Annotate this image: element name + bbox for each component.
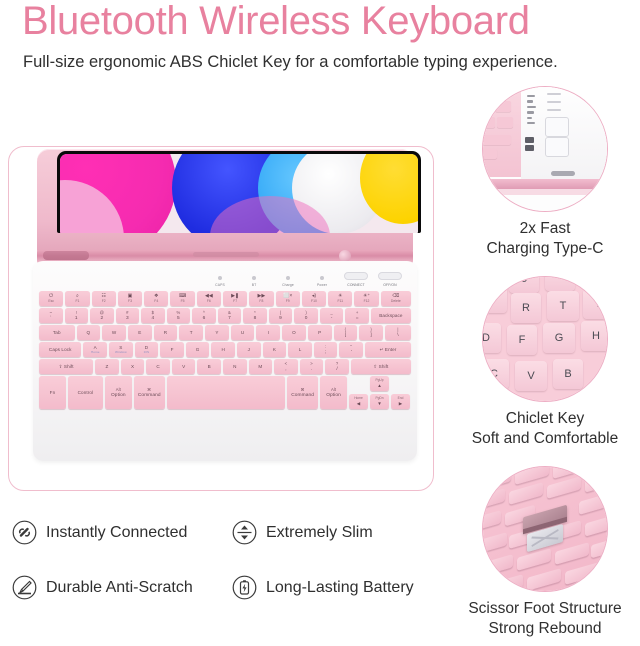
key-upper-label: !: [76, 310, 77, 315]
key-space[interactable]: ?/: [325, 359, 349, 374]
key-command[interactable]: ⌘Command: [287, 376, 318, 409]
magnified-key-f: F: [507, 325, 537, 355]
key-enter[interactable]: ↵ Enter: [365, 342, 411, 357]
key-f12[interactable]: ☀⁺F12: [354, 291, 378, 306]
key-i[interactable]: I: [256, 325, 280, 340]
scissor-bg-key: [579, 492, 607, 515]
callout-image-fast-charging: [482, 86, 608, 212]
callout-caption-line1: Scissor Foot Structure: [455, 599, 635, 619]
key-upper-label: ": [350, 344, 352, 349]
led-dot: [286, 276, 290, 280]
key-upper-label: :: [325, 344, 326, 349]
led-dot: [218, 276, 222, 280]
key-p[interactable]: P: [308, 325, 332, 340]
key-label: H: [222, 347, 225, 352]
scissor-bg-key: [527, 568, 561, 591]
magnified-key-d: DiOS: [482, 323, 501, 353]
key-label: K: [273, 347, 276, 352]
key-1[interactable]: !1: [65, 308, 89, 323]
key-4[interactable]: $4: [141, 308, 165, 323]
key-lower-label: [: [345, 333, 346, 338]
pencil-holder-slot: [43, 251, 89, 260]
key-upper-label: %: [177, 310, 181, 315]
magnified-key-c: C: [482, 359, 509, 389]
thickness-arrows-icon: [232, 520, 257, 545]
key-0[interactable]: )0: [294, 308, 318, 323]
key-2[interactable]: @2: [90, 308, 114, 323]
led-dot: [320, 276, 324, 280]
key-w[interactable]: W: [102, 325, 126, 340]
key-label: Caps Lock: [49, 347, 72, 352]
feature-durable-anti-scratch: Durable Anti-Scratch: [12, 575, 232, 600]
key-label: I: [268, 330, 269, 335]
key-tab[interactable]: Tab: [39, 325, 75, 340]
closeup-led: [525, 145, 534, 151]
key-esc[interactable]: ⏻Esc: [39, 291, 63, 306]
key-r[interactable]: R: [154, 325, 178, 340]
key-lower-label: 4: [152, 316, 155, 321]
feature-label: Long-Lasting Battery: [266, 578, 414, 598]
key-shift[interactable]: ⇧ Shift: [39, 359, 93, 374]
key-label: R: [164, 330, 167, 335]
key-upper-label: @: [100, 310, 104, 315]
key-n[interactable]: N: [223, 359, 247, 374]
magnified-key-label: H: [592, 330, 600, 342]
key-q[interactable]: Q: [77, 325, 101, 340]
key-sublabel: Esc: [48, 299, 54, 303]
feature-label: Extremely Slim: [266, 523, 373, 543]
key-8[interactable]: *8: [243, 308, 267, 323]
key-u[interactable]: U: [231, 325, 255, 340]
key-f10[interactable]: ◂)F10: [302, 291, 326, 306]
indicator-label: BT: [237, 283, 271, 287]
link-icon: [12, 520, 37, 545]
magnified-key-label: T: [560, 300, 567, 312]
key-upper-label: <: [285, 361, 288, 366]
key-m[interactable]: M: [249, 359, 273, 374]
callout-caption-line1: 2x Fast: [455, 219, 635, 239]
key-upper-label: {: [345, 327, 347, 332]
key-f5[interactable]: ⌨F5: [170, 291, 194, 306]
key-sublabel: F12: [364, 299, 370, 303]
key-sublabel: F11: [337, 299, 343, 303]
key-label: F: [171, 347, 174, 352]
key-label: O: [292, 330, 296, 335]
key-label: Z: [106, 364, 109, 369]
closeup-case-edge-lower: [482, 189, 608, 195]
scissor-bg-key: [483, 554, 513, 577]
scissor-bg-key: [555, 542, 589, 565]
key-k[interactable]: K: [263, 342, 287, 357]
key-caps-lock[interactable]: Caps Lock: [39, 342, 81, 357]
key-lower-label: 2: [100, 316, 103, 321]
magnified-key-label: B: [564, 368, 571, 380]
key-f9[interactable]: ⬜×F9: [276, 291, 300, 306]
key-sublabel: F3: [128, 299, 132, 303]
key-lower-label: 6: [203, 316, 206, 321]
tablet-with-keyboard: CAPSBTChargePowerCONNECTOFF/ON ⏻Esc⌕F1☷F…: [23, 147, 421, 479]
key-upper-label: &: [228, 310, 231, 315]
closeup-switch-pill: [545, 137, 569, 157]
feature-row: Durable Anti-ScratchLong-Lasting Battery: [12, 575, 452, 600]
callout-caption-line2: Charging Type-C: [455, 239, 635, 259]
indicator-label: Charge: [271, 283, 305, 287]
key-label: P: [318, 330, 321, 335]
key-o[interactable]: O: [282, 325, 306, 340]
key-glyph: ▼: [377, 401, 382, 406]
callout-scissor-foot: Scissor Foot Structure Strong Rebound: [455, 466, 635, 639]
scissor-bg-key: [547, 476, 581, 499]
key-glyph: ▲: [377, 383, 382, 388]
indicator-charge: Charge: [271, 276, 305, 287]
tablet-body: [37, 149, 413, 253]
key-label: G: [196, 347, 200, 352]
callout-caption-line2: Soft and Comfortable: [455, 429, 635, 449]
key-sublabel: F8: [259, 299, 263, 303]
scratch-pen-icon: [12, 575, 37, 600]
key-7[interactable]: &7: [218, 308, 242, 323]
magnified-key-label: Y: [594, 298, 601, 310]
feature-list: Instantly ConnectedExtremely SlimDurable…: [12, 520, 452, 630]
magnified-key-5: 5: [509, 276, 539, 293]
magnified-key-label: F: [519, 334, 526, 346]
key-upper-label: ~: [49, 310, 52, 315]
magnified-key-h: H: [581, 321, 608, 351]
magnified-key: [482, 283, 507, 313]
closeup-dash: [547, 101, 561, 103]
key-lower-label: Option: [326, 393, 341, 398]
switch-label: OFF/ON: [373, 283, 407, 287]
key-upper-label: *: [254, 310, 256, 315]
product-infographic: Bluetooth Wireless Keyboard Full-size er…: [0, 0, 640, 646]
scissor-bg-key: [483, 532, 507, 555]
magnified-key-label: V: [527, 370, 534, 382]
magnified-key-label: G: [555, 332, 564, 344]
key-label: Y: [215, 330, 218, 335]
key-rows: ⏻Esc⌕F1☷F2▣F3❖F4⌨F5◀◀F6▶❚F7▶▶F8⬜×F9◂)F10…: [39, 291, 411, 411]
key-lower-label: /: [336, 367, 337, 372]
key-f1[interactable]: ⌕F1: [65, 291, 89, 306]
key-space[interactable]: }]: [359, 325, 383, 340]
key-delete[interactable]: ⌫Delete: [381, 291, 411, 306]
switch-off-on[interactable]: OFF/ON: [373, 272, 407, 287]
key-lower-label: ;: [325, 350, 326, 355]
scissor-bg-key: [483, 510, 501, 533]
key-upper-label: _: [330, 310, 332, 315]
key-f2[interactable]: ☷F2: [92, 291, 116, 306]
key-key[interactable]: [167, 376, 285, 409]
key-shift[interactable]: ⇧ Shift: [351, 359, 411, 374]
closeup-key-wide: [482, 135, 511, 145]
key-5[interactable]: %5: [167, 308, 191, 323]
key-label: W: [112, 330, 116, 335]
key-g[interactable]: G: [186, 342, 210, 357]
scissor-bg-key: [509, 482, 543, 505]
closeup-key: [495, 101, 511, 112]
key-space[interactable]: _-: [320, 308, 344, 323]
key-6[interactable]: ^6: [192, 308, 216, 323]
magnified-key: [545, 276, 575, 291]
key-lower-label: =: [356, 316, 359, 321]
callout-fast-charging: 2x Fast Charging Type-C: [455, 86, 635, 259]
key-x[interactable]: X: [121, 359, 145, 374]
magnified-key-v: V: [515, 361, 547, 391]
key-space[interactable]: |\: [385, 325, 411, 340]
key-label: J: [248, 347, 250, 352]
key-sublabel: F1: [75, 299, 79, 303]
key-fn[interactable]: Fn: [39, 376, 66, 409]
page-title: Bluetooth Wireless Keyboard: [22, 0, 622, 44]
key-lower-label: -: [331, 316, 333, 321]
key-lower-label: Command: [291, 393, 314, 398]
callout-image-chiclet-key: 5RTYDiOSFGHCVB: [482, 276, 608, 402]
key-function-label: Home: [91, 351, 100, 354]
key-label: E: [138, 330, 141, 335]
key-sublabel: F10: [311, 299, 317, 303]
page-subtitle: Full-size ergonomic ABS Chiclet Key for …: [23, 50, 583, 75]
indicator-label: Power: [305, 283, 339, 287]
key-space[interactable]: <,: [274, 359, 298, 374]
hinge-notch: [193, 252, 259, 257]
magnified-key-t: T: [547, 291, 579, 321]
key-sublabel: F4: [154, 299, 158, 303]
feature-long-lasting-battery: Long-Lasting Battery: [232, 575, 452, 600]
key-lower-label: ]: [370, 333, 371, 338]
scissor-bg-key: [589, 467, 607, 472]
key-t[interactable]: T: [179, 325, 203, 340]
indicator-bt: BT: [237, 276, 271, 287]
key-a[interactable]: AHome: [83, 342, 107, 357]
key-upper-label: ⌘: [300, 387, 304, 392]
key-sublabel: F5: [181, 299, 185, 303]
key-label: N: [233, 364, 236, 369]
key-upper-label: Alt: [116, 387, 121, 392]
key-lower-label: 8: [254, 316, 257, 321]
key-sublabel: F2: [102, 299, 106, 303]
key-lower-label: ,: [285, 367, 286, 372]
key-f6[interactable]: ◀◀F6: [197, 291, 221, 306]
chiclet-closeup: 5RTYDiOSFGHCVB: [483, 277, 607, 401]
key-lower-label: Command: [138, 393, 161, 398]
key-label: V: [182, 364, 185, 369]
closeup-key: [483, 149, 497, 159]
key-lower-label: 0: [305, 316, 308, 321]
feature-label: Durable Anti-Scratch: [46, 578, 193, 598]
key-control[interactable]: Control: [68, 376, 103, 409]
key-label: M: [258, 364, 262, 369]
switch-pill[interactable]: [378, 272, 402, 280]
key-lower-label: 7: [228, 316, 231, 321]
key-upper-label: ?: [336, 361, 338, 366]
home-row: Caps LockAHomeSWindowDiOSFGHJKL:;"'↵ Ent…: [39, 342, 411, 357]
battery-bolt-icon: [232, 575, 257, 600]
key-function-label: iOS: [144, 351, 149, 354]
key-space[interactable]: +=: [345, 308, 369, 323]
key-f11[interactable]: ☀F11: [328, 291, 352, 306]
key-label: C: [156, 364, 159, 369]
switch-label: CONNECT: [339, 283, 373, 287]
keyboard-base: CAPSBTChargePowerCONNECTOFF/ON ⏻Esc⌕F1☷F…: [33, 261, 417, 461]
key-e[interactable]: E: [128, 325, 152, 340]
feature-instantly-connected: Instantly Connected: [12, 520, 232, 545]
indicator-power: Power: [305, 276, 339, 287]
key-upper-label: }: [370, 327, 372, 332]
key-v[interactable]: V: [172, 359, 196, 374]
key-9[interactable]: (9: [269, 308, 293, 323]
scissor-bg-key: [517, 548, 551, 571]
key-option[interactable]: AltOption: [105, 376, 132, 409]
key-label: ↵ Enter: [380, 347, 397, 352]
function-row: ⏻Esc⌕F1☷F2▣F3❖F4⌨F5◀◀F6▶❚F7▶▶F8⬜×F9◂)F10…: [39, 291, 411, 306]
key-label: T: [190, 330, 193, 335]
callout-chiclet-key: 5RTYDiOSFGHCVB Chiclet Key Soft and Comf…: [455, 276, 635, 449]
closeup-dash: [547, 109, 561, 111]
key-f3[interactable]: ▣F3: [118, 291, 142, 306]
key-3[interactable]: #3: [116, 308, 140, 323]
key-upper-label: #: [126, 310, 128, 315]
closeup-led: [525, 137, 534, 143]
key-z[interactable]: Z: [95, 359, 119, 374]
scissor-bg-key: [591, 537, 607, 559]
key-j[interactable]: J: [237, 342, 261, 357]
key-b[interactable]: B: [197, 359, 221, 374]
feature-row: Instantly ConnectedExtremely Slim: [12, 520, 452, 545]
wallpaper: [60, 154, 418, 233]
key-lower-label: `: [50, 316, 52, 321]
indicator-label: CAPS: [203, 283, 237, 287]
key-f4[interactable]: ❖F4: [144, 291, 168, 306]
key-space[interactable]: :;: [314, 342, 338, 357]
key-glyph: ◀: [357, 401, 361, 406]
key-sublabel: Delete: [391, 299, 401, 303]
scissor-bg-key: [489, 574, 523, 591]
key-label: Q: [87, 330, 91, 335]
key-function-label: Window: [115, 351, 127, 354]
magnified-key-g: G: [543, 323, 575, 353]
magnified-key-y: Y: [583, 289, 608, 319]
feature-label: Instantly Connected: [46, 523, 187, 543]
key-lower-label: Option: [111, 393, 126, 398]
callout-image-scissor-foot: [482, 466, 608, 592]
feature-extremely-slim: Extremely Slim: [232, 520, 452, 545]
shift-row: ⇧ ShiftZXCVBNM<,>.?/⇧ Shift: [39, 359, 411, 374]
magnified-key-r: R: [511, 293, 541, 323]
magnified-key-label: C: [490, 368, 498, 380]
key-label: ⇧ Shift: [59, 364, 74, 369]
key-upper-label: ^: [203, 310, 205, 315]
key-sublabel: F7: [233, 299, 237, 303]
key-sublabel: F6: [207, 299, 211, 303]
magnified-key-label: 5: [521, 276, 527, 285]
scissor-bg-key: [483, 468, 511, 491]
key-backspace[interactable]: Backspace: [371, 308, 411, 323]
key-upper-label: |: [397, 327, 398, 332]
key-command[interactable]: ⌘Command: [134, 376, 165, 409]
key-arrow-left[interactable]: Home◀: [349, 394, 368, 409]
modifier-row: FnControlAltOption⌘Command⌘CommandAltOpt…: [39, 376, 411, 409]
key-f8[interactable]: ▶▶F8: [249, 291, 273, 306]
number-row: ~`!1@2#3$4%5^6&7*8(9)0_-+=Backspace: [39, 308, 411, 323]
key-label: X: [131, 364, 134, 369]
magnified-key-label: R: [522, 302, 530, 314]
tablet-screen: [57, 151, 421, 233]
key-space[interactable]: ~`: [39, 308, 63, 323]
key-label: ⇧ Shift: [373, 364, 388, 369]
key-upper-label: ⌘: [147, 387, 151, 392]
usb-type-c-port: [551, 171, 575, 176]
charging-closeup: [482, 87, 608, 211]
closeup-white-panel: [521, 86, 608, 179]
scissor-closeup: [483, 467, 607, 591]
closeup-key: [482, 101, 493, 112]
key-s[interactable]: SWindow: [109, 342, 133, 357]
key-label: Fn: [50, 390, 56, 395]
key-arrow-right[interactable]: End▶: [391, 394, 410, 409]
closeup-switch-pill: [545, 117, 569, 137]
callout-caption-line1: Chiclet Key: [455, 409, 635, 429]
scissor-bg-key: [553, 467, 587, 479]
indicator-strip: CAPSBTChargePowerCONNECTOFF/ON: [203, 272, 407, 287]
key-d[interactable]: DiOS: [135, 342, 159, 357]
key-label: B: [208, 364, 211, 369]
closeup-key: [497, 117, 513, 128]
key-upper-label: ): [305, 310, 307, 315]
key-lower-label: \: [397, 333, 398, 338]
key-h[interactable]: H: [211, 342, 235, 357]
scissor-bg-key: [585, 514, 607, 536]
scissor-bg-key: [565, 562, 599, 585]
product-image-panel: CAPSBTChargePowerCONNECTOFF/ON ⏻Esc⌕F1☷F…: [8, 146, 434, 491]
key-label: L: [299, 347, 302, 352]
switch-connect[interactable]: CONNECT: [339, 272, 373, 287]
key-label: Control: [78, 390, 94, 395]
key-f[interactable]: F: [160, 342, 184, 357]
key-upper-label: Alt: [331, 387, 336, 392]
magnified-key-label: D: [482, 332, 490, 344]
closeup-key: [482, 117, 495, 128]
key-y[interactable]: Y: [205, 325, 229, 340]
key-lower-label: ': [351, 350, 352, 355]
key-c[interactable]: C: [146, 359, 170, 374]
key-label: Tab: [53, 330, 61, 335]
scissor-bg-key: [483, 488, 505, 511]
key-arrow-up[interactable]: PgUp▲: [370, 376, 389, 391]
key-lower-label: 5: [177, 316, 180, 321]
arrow-key-cluster: PgUp▲Home◀PgDn▼End▶: [349, 376, 411, 409]
key-lower-label: 1: [75, 316, 78, 321]
magnified-key-b: B: [553, 359, 583, 389]
led-dot: [252, 276, 256, 280]
key-upper-label: $: [152, 310, 154, 315]
key-f7[interactable]: ▶❚F7: [223, 291, 247, 306]
key-upper-label: +: [356, 310, 359, 315]
key-label: U: [241, 330, 244, 335]
key-space[interactable]: "': [339, 342, 363, 357]
scissor-bg-key: [585, 470, 607, 492]
key-space[interactable]: >.: [300, 359, 324, 374]
key-upper-label: (: [280, 310, 282, 315]
callout-caption-line2: Strong Rebound: [455, 619, 635, 639]
scissor-bg-key: [515, 467, 549, 485]
closeup-dash: [547, 93, 561, 95]
key-l[interactable]: L: [288, 342, 312, 357]
key-space[interactable]: {[: [334, 325, 358, 340]
key-lower-label: 9: [279, 316, 282, 321]
key-arrow-down[interactable]: PgDn▼: [370, 394, 389, 409]
key-option[interactable]: AltOption: [320, 376, 347, 409]
key-label: Backspace: [379, 313, 402, 318]
switch-pill[interactable]: [344, 272, 368, 280]
